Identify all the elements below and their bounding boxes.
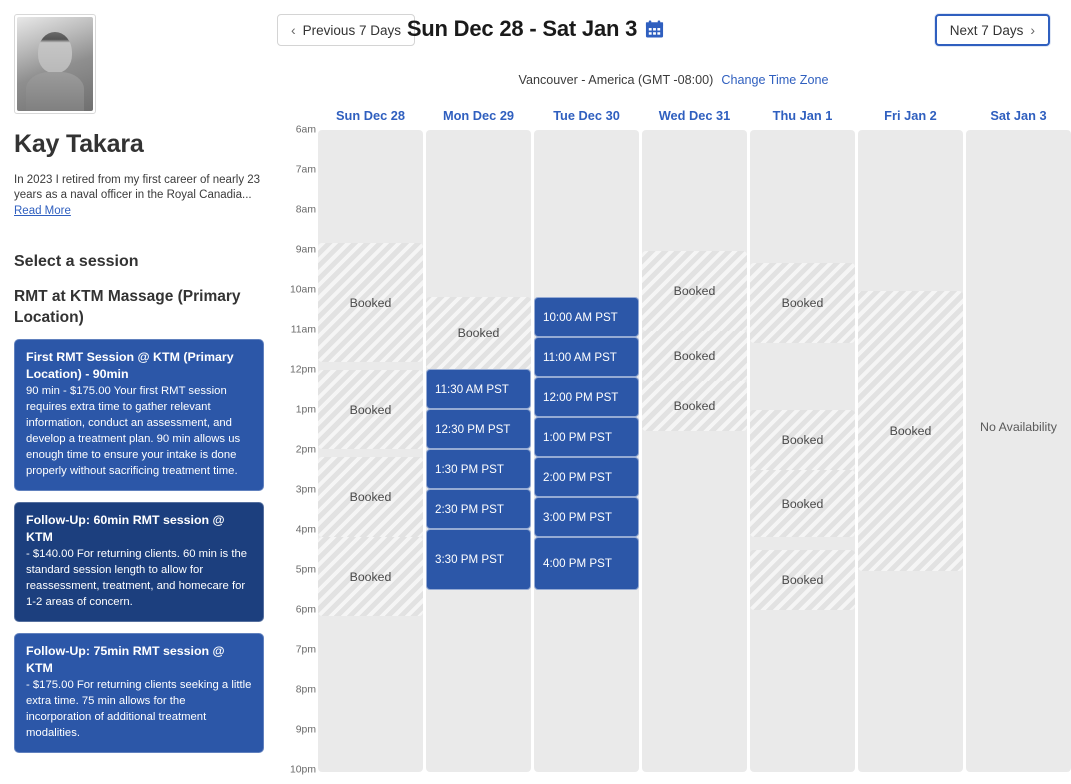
time-slot-button[interactable]: 2:30 PM PST	[426, 489, 531, 529]
day-column-2: 10:00 AM PST11:00 AM PST12:00 PM PST1:00…	[534, 130, 639, 772]
time-label: 3pm	[296, 485, 316, 496]
calendar-icon[interactable]	[645, 19, 664, 39]
time-slot-button[interactable]: 12:30 PM PST	[426, 409, 531, 449]
page-title: Kay Takara	[14, 130, 264, 159]
next-7-days-label: Next 7 Days	[950, 23, 1024, 38]
day-columns: BookedBookedBookedBookedBooked11:30 AM P…	[318, 130, 1071, 784]
session-card[interactable]: First RMT Session @ KTM (Primary Locatio…	[14, 339, 264, 491]
day-column-4: BookedBookedBookedBooked	[750, 130, 855, 772]
booked-block: Booked	[750, 263, 855, 343]
session-card-title: First RMT Session @ KTM (Primary Locatio…	[26, 349, 252, 382]
session-card-description: 90 min - $175.00 Your first RMT session …	[26, 383, 252, 479]
time-label: 6pm	[296, 605, 316, 616]
time-slot-button[interactable]: 1:30 PM PST	[426, 449, 531, 489]
chevron-left-icon: ‹	[291, 23, 296, 37]
booked-block: Booked	[642, 331, 747, 381]
day-column-6: No Availability	[966, 130, 1071, 772]
time-slot-button[interactable]: 2:00 PM PST	[534, 457, 639, 497]
time-axis: 6am7am8am9am10am11am12pm1pm2pm3pm4pm5pm6…	[276, 130, 318, 784]
booked-block: Booked	[750, 550, 855, 610]
session-card[interactable]: Follow-Up: 75min RMT session @ KTM- $175…	[14, 633, 264, 753]
time-label: 10am	[290, 285, 316, 296]
time-slot-button[interactable]: 3:30 PM PST	[426, 529, 531, 590]
booked-block: Booked	[750, 410, 855, 470]
timezone-row: Vancouver - America (GMT -08:00) Change …	[276, 73, 1071, 87]
day-column-1: Booked11:30 AM PST12:30 PM PST1:30 PM PS…	[426, 130, 531, 772]
booking-page: Kay Takara In 2023 I retired from my fir…	[0, 0, 1071, 784]
day-header-3[interactable]: Wed Dec 31	[642, 108, 747, 128]
select-session-heading: Select a session	[14, 253, 264, 271]
previous-7-days-label: Previous 7 Days	[303, 23, 401, 38]
time-slot-button[interactable]: 11:30 AM PST	[426, 369, 531, 409]
time-label: 7am	[296, 165, 316, 176]
booked-block: Booked	[318, 537, 423, 616]
booked-block: Booked	[642, 381, 747, 431]
time-label: 1pm	[296, 405, 316, 416]
service-group-heading: RMT at KTM Massage (Primary Location)	[14, 286, 264, 328]
profile-bio-text: In 2023 I retired from my first career o…	[14, 174, 260, 201]
time-label: 2pm	[296, 445, 316, 456]
time-label: 8am	[296, 205, 316, 216]
time-label: 9am	[296, 245, 316, 256]
timezone-label: Vancouver - America (GMT -08:00)	[519, 73, 714, 87]
time-label: 10pm	[290, 765, 316, 776]
booked-block: Booked	[318, 457, 423, 537]
booked-block: Booked	[642, 251, 747, 331]
time-label: 4pm	[296, 525, 316, 536]
availability-calendar: Sun Dec 28Mon Dec 29Tue Dec 30Wed Dec 31…	[276, 108, 1071, 784]
day-column-5: Booked	[858, 130, 963, 772]
chevron-right-icon: ›	[1030, 23, 1035, 37]
session-card-description: - $140.00 For returning clients. 60 min …	[26, 546, 252, 610]
booked-block: Booked	[318, 243, 423, 362]
day-header-2[interactable]: Tue Dec 30	[534, 108, 639, 128]
day-column-0: BookedBookedBookedBooked	[318, 130, 423, 772]
time-label: 12pm	[290, 365, 316, 376]
avatar	[14, 14, 96, 114]
day-header-5[interactable]: Fri Jan 2	[858, 108, 963, 128]
time-slot-button[interactable]: 11:00 AM PST	[534, 337, 639, 377]
session-card-title: Follow-Up: 75min RMT session @ KTM	[26, 643, 252, 676]
time-slot-button[interactable]: 1:00 PM PST	[534, 417, 639, 457]
previous-7-days-button[interactable]: ‹ Previous 7 Days	[277, 14, 415, 46]
time-label: 8pm	[296, 685, 316, 696]
day-header-1[interactable]: Mon Dec 29	[426, 108, 531, 128]
day-header-row: Sun Dec 28Mon Dec 29Tue Dec 30Wed Dec 31…	[276, 108, 1071, 130]
time-label: 7pm	[296, 645, 316, 656]
day-header-0[interactable]: Sun Dec 28	[318, 108, 423, 128]
time-slot-button[interactable]: 4:00 PM PST	[534, 537, 639, 590]
booked-block: Booked	[858, 291, 963, 571]
session-card-description: - $175.00 For returning clients seeking …	[26, 677, 252, 741]
change-timezone-link[interactable]: Change Time Zone	[721, 73, 828, 87]
time-label: 11am	[291, 325, 316, 336]
time-slot-button[interactable]: 3:00 PM PST	[534, 497, 639, 537]
day-column-3: BookedBookedBooked	[642, 130, 747, 772]
day-header-6[interactable]: Sat Jan 3	[966, 108, 1071, 128]
booked-block: Booked	[426, 297, 531, 369]
profile-sidebar: Kay Takara In 2023 I retired from my fir…	[0, 0, 276, 784]
session-card-title: Follow-Up: 60min RMT session @ KTM	[26, 512, 252, 545]
time-slot-button[interactable]: 12:00 PM PST	[534, 377, 639, 417]
read-more-link[interactable]: Read More	[14, 204, 71, 219]
profile-photo	[17, 17, 93, 111]
booked-block: Booked	[750, 470, 855, 537]
time-label: 6am	[296, 125, 316, 136]
session-card[interactable]: Follow-Up: 60min RMT session @ KTM- $140…	[14, 502, 264, 622]
next-7-days-button[interactable]: Next 7 Days ›	[935, 14, 1050, 46]
session-list: First RMT Session @ KTM (Primary Locatio…	[14, 339, 264, 753]
no-availability-label: No Availability	[966, 420, 1071, 434]
profile-bio: In 2023 I retired from my first career o…	[14, 173, 264, 219]
time-label: 9pm	[296, 725, 316, 736]
date-range-label: Sun Dec 28 - Sat Jan 3	[407, 16, 637, 42]
booked-block: Booked	[318, 370, 423, 449]
time-label: 5pm	[296, 565, 316, 576]
time-slot-button[interactable]: 10:00 AM PST	[534, 297, 639, 337]
day-header-4[interactable]: Thu Jan 1	[750, 108, 855, 128]
